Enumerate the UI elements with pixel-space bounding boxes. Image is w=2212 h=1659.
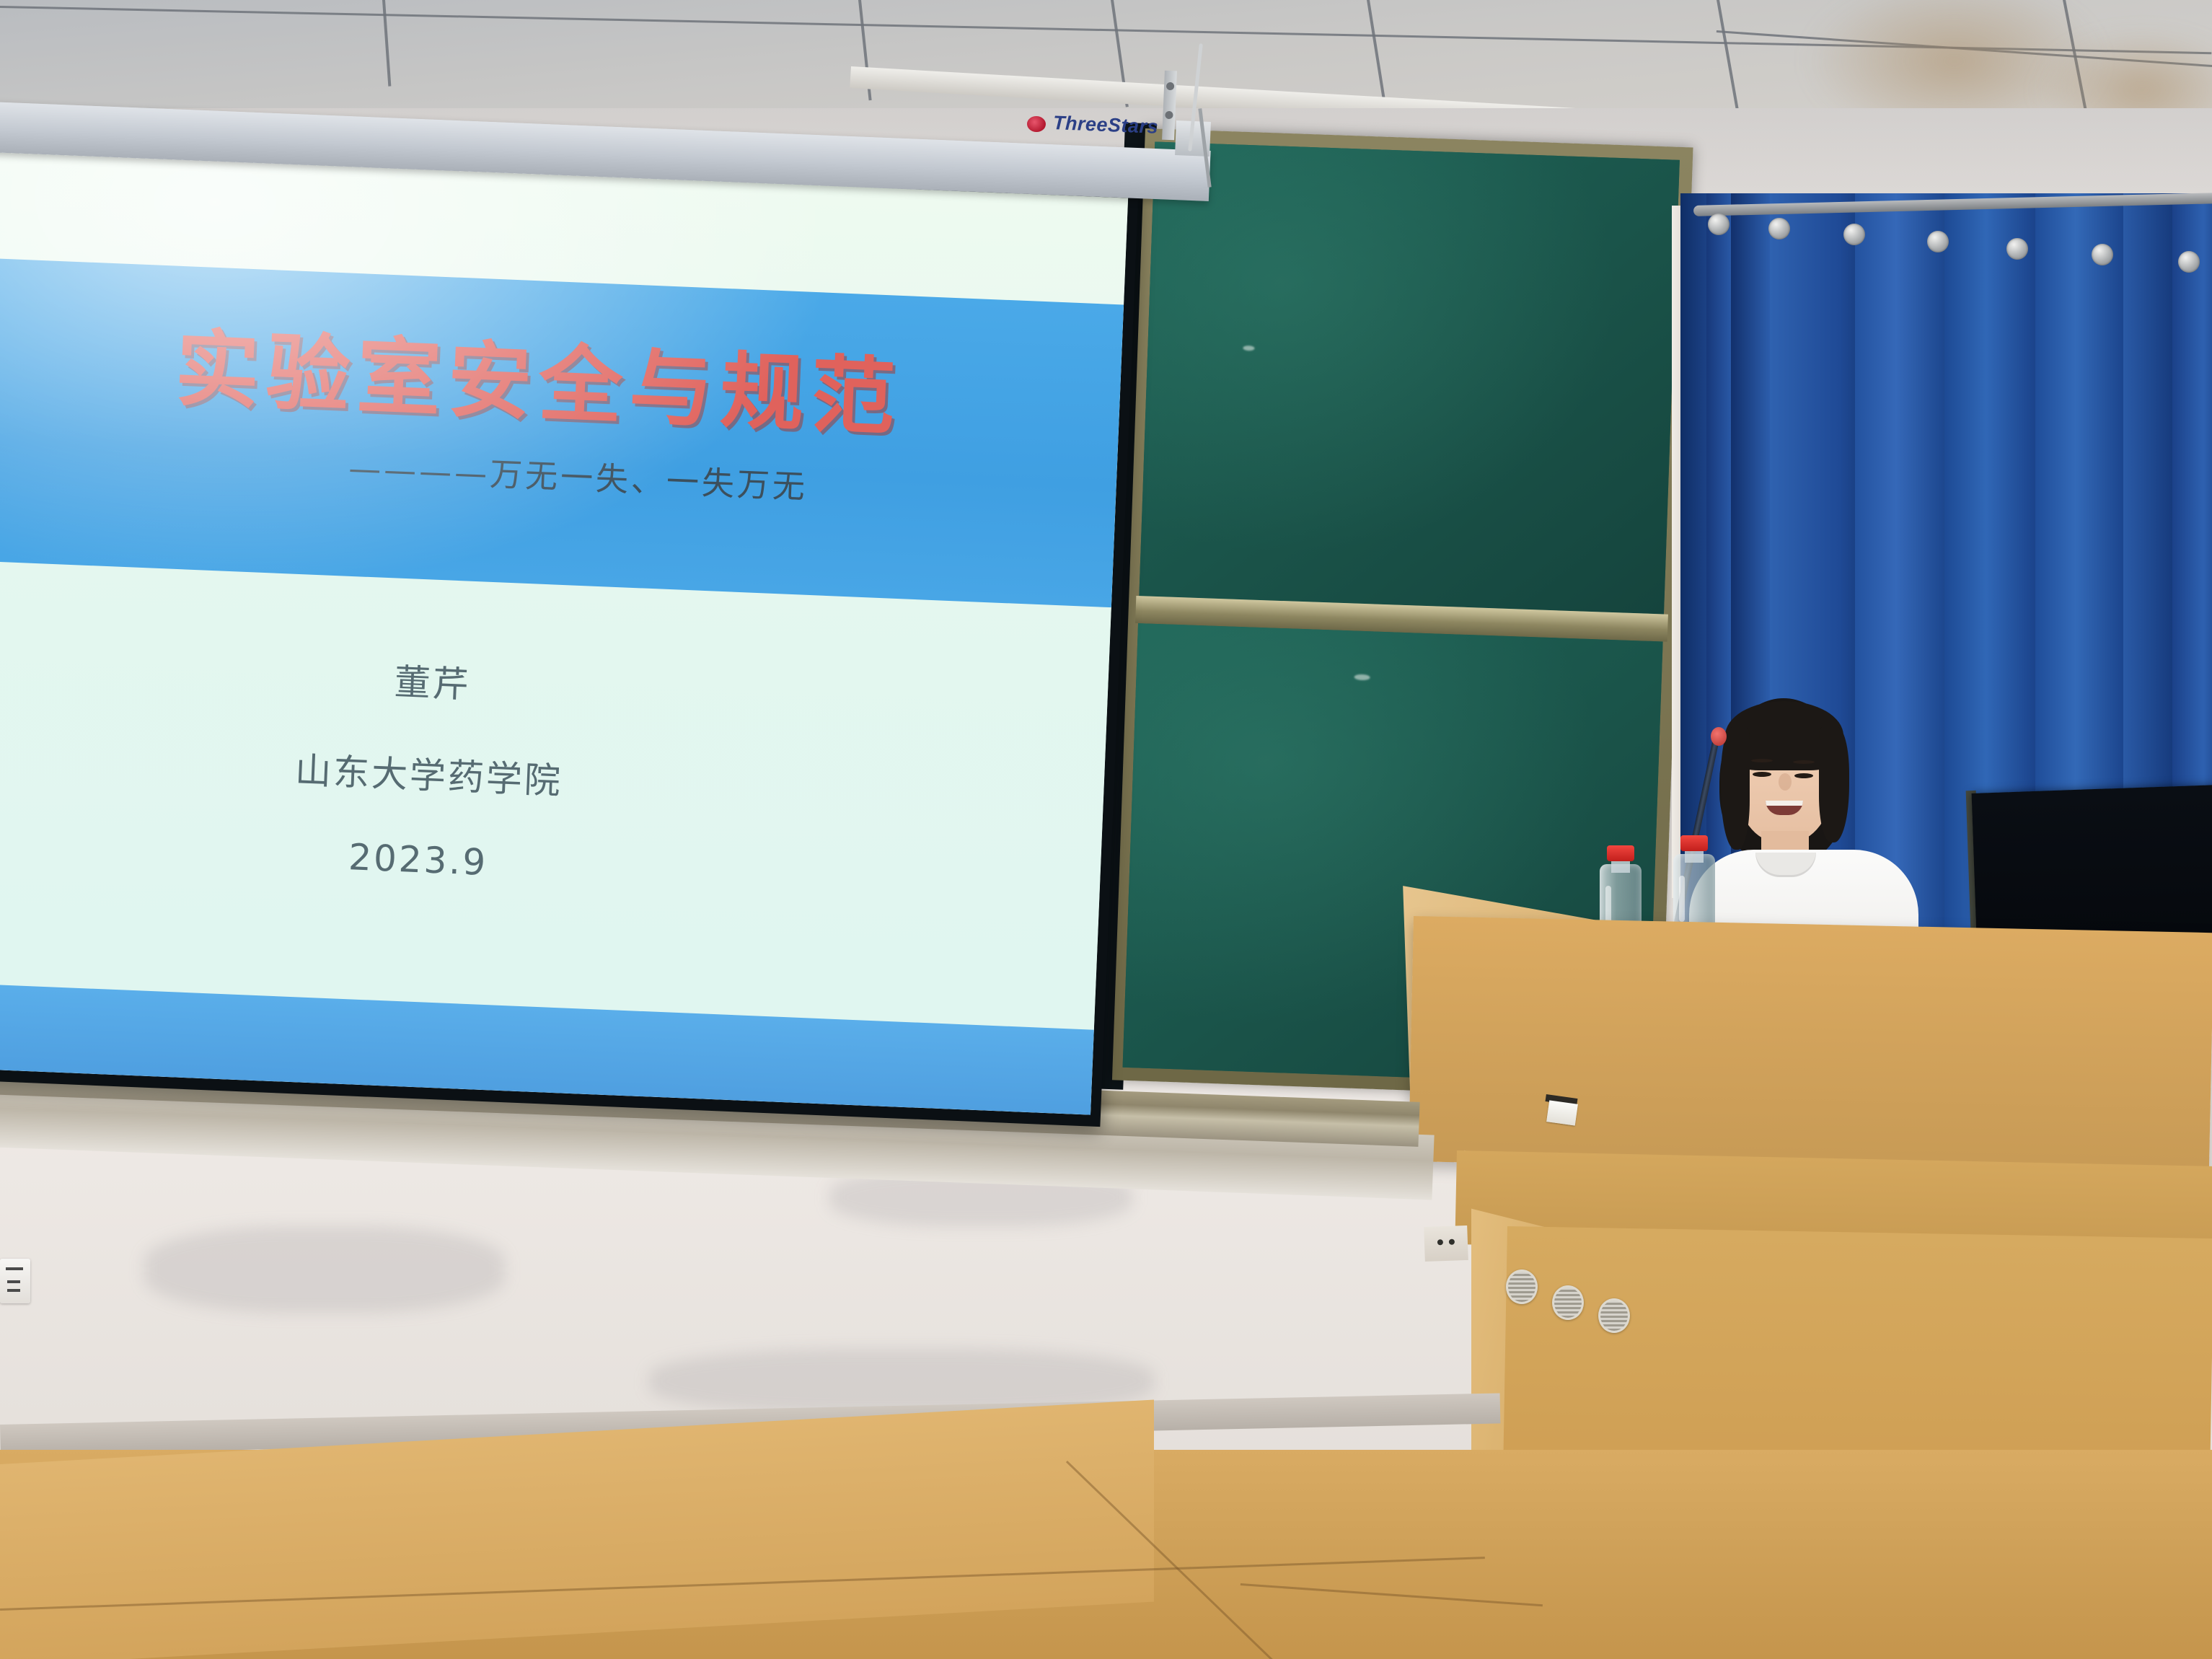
nose — [1779, 773, 1792, 791]
projection-screen[interactable]: 实验室安全与规范 ————万无一失、一失万无 董芹 山东大学药学院 2023.9 — [0, 141, 1139, 1127]
screen-brand-label: ThreeStars — [1052, 112, 1158, 138]
lectern-label — [1546, 1100, 1578, 1125]
curtain-grommet — [1708, 214, 1729, 235]
hair-right — [1819, 727, 1849, 842]
curtain-grommet — [1927, 231, 1949, 252]
eyebrow — [1751, 759, 1773, 762]
eye — [1753, 772, 1771, 777]
slide-date: 2023.9 — [0, 819, 1101, 909]
bottle-cap — [1607, 845, 1634, 861]
lecture-hall-scene: 实验室安全与规范 ————万无一失、一失万无 董芹 山东大学药学院 2023.9… — [0, 0, 2212, 1659]
lectern-vent-icon — [1598, 1298, 1630, 1333]
hair-left — [1721, 727, 1750, 850]
slide: 实验室安全与规范 ————万无一失、一失万无 董芹 山东大学药学院 2023.9 — [0, 151, 1128, 1115]
bottle-cap — [1680, 835, 1708, 851]
blackboard-upper-panel — [1139, 141, 1680, 614]
chalk-mark — [1243, 346, 1254, 351]
lectern-top[interactable] — [1409, 916, 2212, 1178]
curtain-grommet — [1768, 218, 1790, 239]
chalk-mark — [1354, 674, 1370, 681]
water-bottle[interactable] — [1673, 835, 1715, 935]
microphone-head[interactable] — [1711, 727, 1727, 746]
curtain-grommet — [1843, 224, 1865, 245]
curtain-grommet — [2006, 238, 2028, 260]
light-switch[interactable] — [0, 1259, 30, 1303]
power-outlet[interactable] — [1424, 1225, 1468, 1262]
projection-screen-surface: 实验室安全与规范 ————万无一失、一失万无 董芹 山东大学药学院 2023.9 — [0, 151, 1128, 1115]
slide-affiliation: 山东大学药学院 — [0, 727, 1104, 827]
lectern-vent-icon — [1552, 1285, 1584, 1320]
eye — [1794, 773, 1813, 778]
lectern-vent-icon — [1506, 1269, 1538, 1304]
curtain-grommet — [2092, 244, 2113, 265]
eyebrow — [1793, 760, 1815, 764]
curtain-grommet — [2178, 251, 2200, 273]
slide-presenter: 董芹 — [0, 635, 1109, 734]
wall-scuff — [144, 1226, 505, 1313]
